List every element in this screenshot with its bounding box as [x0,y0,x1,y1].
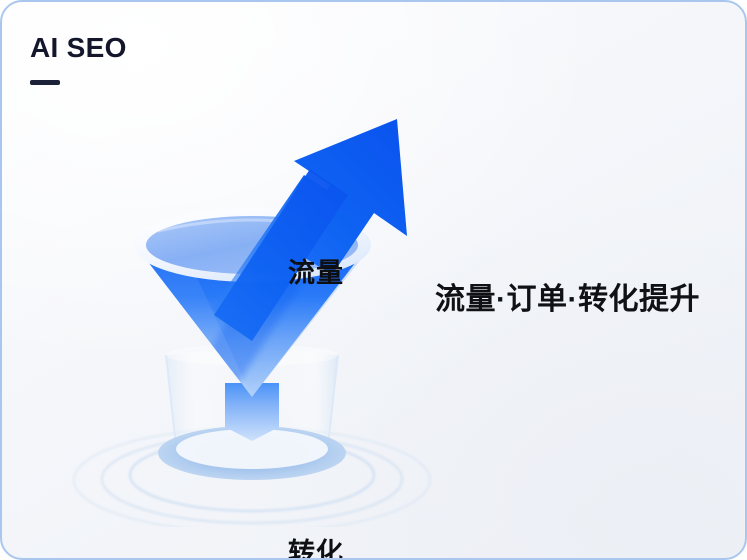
title-underline-rule [30,80,60,85]
page-title: AI SEO [30,34,330,62]
illustration-card: AI SEO 流量·订单·转化提升 [0,0,747,560]
header: AI SEO [30,34,330,85]
tagline-text: 流量·订单·转化提升 [435,274,700,318]
funnel-illustration-svg [62,97,442,527]
funnel-label-traffic: 流量 [288,251,344,290]
funnel-label-conversion: 转化 [288,531,344,560]
funnel-illustration: 流量 转化 [62,97,442,527]
